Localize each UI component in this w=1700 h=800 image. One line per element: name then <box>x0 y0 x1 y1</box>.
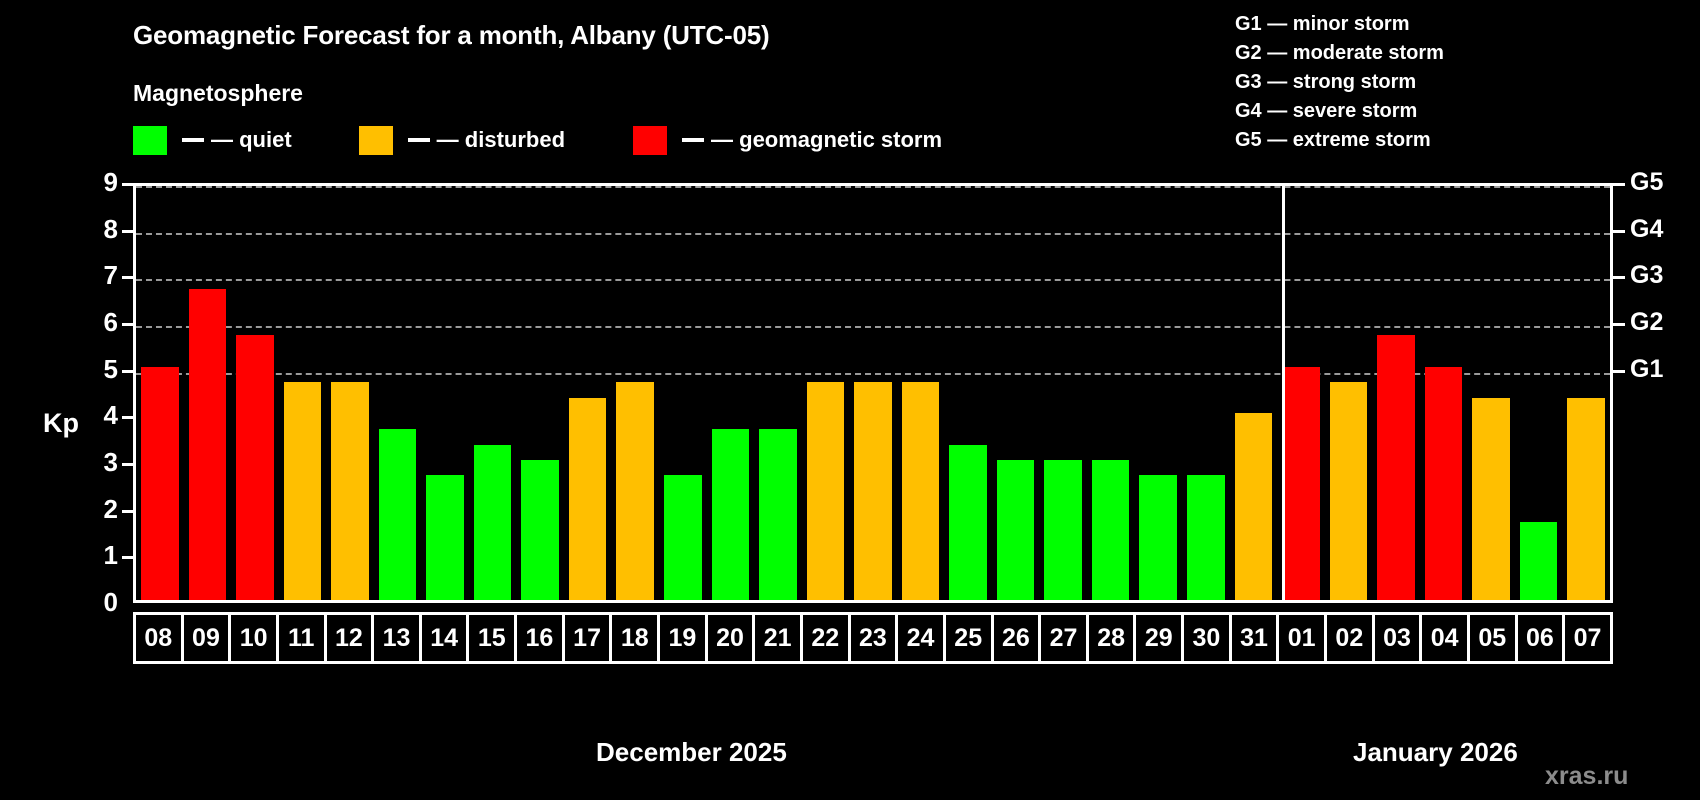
g-scale-line-g2: G2 — moderate storm <box>1235 39 1444 68</box>
bar-14[interactable] <box>426 475 464 600</box>
g-tick-mark-g2 <box>1613 323 1625 326</box>
g-scale-line-g3: G3 — strong storm <box>1235 68 1444 97</box>
bar-04[interactable] <box>1425 367 1463 600</box>
bar-slot <box>326 186 374 600</box>
date-label-29[interactable]: 29 <box>1133 612 1184 664</box>
bar-31[interactable] <box>1235 413 1273 600</box>
date-label-17[interactable]: 17 <box>562 612 613 664</box>
bar-slot <box>611 186 659 600</box>
bar-26[interactable] <box>997 460 1035 600</box>
legend-heading: Magnetosphere <box>133 80 303 107</box>
date-label-31[interactable]: 31 <box>1229 612 1280 664</box>
bar-19[interactable] <box>664 475 702 600</box>
bar-11[interactable] <box>284 382 322 600</box>
date-label-15[interactable]: 15 <box>466 612 517 664</box>
g-scale-line-g5: G5 — extreme storm <box>1235 126 1444 155</box>
date-label-27[interactable]: 27 <box>1038 612 1089 664</box>
legend-item-disturbed: — disturbed <box>359 126 565 155</box>
date-label-02[interactable]: 02 <box>1324 612 1375 664</box>
g-scale-line-g1: G1 — minor storm <box>1235 10 1444 39</box>
g-tick-label-g4: G4 <box>1630 217 1663 242</box>
date-label-28[interactable]: 28 <box>1086 612 1137 664</box>
bar-slot <box>849 186 897 600</box>
date-label-08[interactable]: 08 <box>133 612 184 664</box>
page-title: Geomagnetic Forecast for a month, Albany… <box>133 20 769 51</box>
bar-24[interactable] <box>902 382 940 600</box>
bar-slot <box>1134 186 1182 600</box>
bar-18[interactable] <box>616 382 654 600</box>
bar-15[interactable] <box>474 445 512 600</box>
legend-dash-icon <box>408 138 430 142</box>
legend-dash-icon <box>682 138 704 142</box>
g-tick-mark-g4 <box>1613 230 1625 233</box>
y-tick-label-1: 1 <box>78 542 118 568</box>
bar-03[interactable] <box>1377 335 1415 600</box>
y-tick-label-2: 2 <box>78 496 118 522</box>
date-label-13[interactable]: 13 <box>371 612 422 664</box>
legend-label-quiet: — quiet <box>211 127 292 153</box>
date-label-23[interactable]: 23 <box>848 612 899 664</box>
geomagnetic-forecast-chart: Geomagnetic Forecast for a month, Albany… <box>0 0 1700 800</box>
bar-02[interactable] <box>1330 382 1368 600</box>
bar-slot <box>992 186 1040 600</box>
legend-dash-icon <box>182 138 204 142</box>
bar-slot <box>1182 186 1230 600</box>
date-label-30[interactable]: 30 <box>1181 612 1232 664</box>
date-label-20[interactable]: 20 <box>705 612 756 664</box>
g-scale-legend: G1 — minor storm G2 — moderate storm G3 … <box>1235 10 1444 155</box>
amber-square-icon <box>359 126 393 155</box>
bar-slot <box>944 186 992 600</box>
bar-10[interactable] <box>236 335 274 600</box>
bar-27[interactable] <box>1044 460 1082 600</box>
bar-slot <box>1325 186 1373 600</box>
bar-25[interactable] <box>949 445 987 600</box>
green-square-icon <box>133 126 167 155</box>
bar-23[interactable] <box>854 382 892 600</box>
bar-06[interactable] <box>1520 522 1558 600</box>
g-tick-label-g2: G2 <box>1630 310 1663 335</box>
bar-21[interactable] <box>759 429 797 600</box>
date-label-03[interactable]: 03 <box>1372 612 1423 664</box>
month-label-january: January 2026 <box>1353 737 1518 768</box>
bar-05[interactable] <box>1472 398 1510 600</box>
date-label-09[interactable]: 09 <box>181 612 232 664</box>
y-tick-label-8: 8 <box>78 216 118 242</box>
g-tick-label-g1: G1 <box>1630 357 1663 382</box>
watermark: xras.ru <box>1545 762 1628 791</box>
bar-slot <box>1230 186 1278 600</box>
bar-13[interactable] <box>379 429 417 600</box>
bar-08[interactable] <box>141 367 179 600</box>
bar-slot <box>184 186 232 600</box>
bar-28[interactable] <box>1092 460 1130 600</box>
date-label-05[interactable]: 05 <box>1467 612 1518 664</box>
bar-01[interactable] <box>1282 367 1320 600</box>
g-tick-mark-g1 <box>1613 370 1625 373</box>
bar-slot <box>279 186 327 600</box>
bar-29[interactable] <box>1139 475 1177 600</box>
date-label-26[interactable]: 26 <box>991 612 1042 664</box>
legend-label-storm: — geomagnetic storm <box>711 127 942 153</box>
legend-label-disturbed: — disturbed <box>437 127 565 153</box>
bar-slot <box>754 186 802 600</box>
date-label-22[interactable]: 22 <box>800 612 851 664</box>
g-tick-mark-g3 <box>1613 276 1625 279</box>
g-tick-label-g5: G5 <box>1630 170 1663 195</box>
date-label-16[interactable]: 16 <box>514 612 565 664</box>
bar-slot <box>469 186 517 600</box>
date-label-19[interactable]: 19 <box>657 612 708 664</box>
y-tick-label-5: 5 <box>78 356 118 382</box>
bar-slot <box>1562 186 1610 600</box>
g-scale-line-g4: G4 — severe storm <box>1235 97 1444 126</box>
bar-slot <box>421 186 469 600</box>
y-tick-label-7: 7 <box>78 262 118 288</box>
bar-20[interactable] <box>712 429 750 600</box>
y-tick-label-6: 6 <box>78 309 118 335</box>
date-label-06[interactable]: 06 <box>1515 612 1566 664</box>
bar-07[interactable] <box>1567 398 1605 600</box>
legend-item-quiet: — quiet <box>133 126 292 155</box>
red-square-icon <box>633 126 667 155</box>
date-label-07[interactable]: 07 <box>1562 612 1613 664</box>
bar-slot <box>707 186 755 600</box>
bar-slot <box>374 186 422 600</box>
date-label-18[interactable]: 18 <box>609 612 660 664</box>
bar-slot <box>802 186 850 600</box>
date-label-10[interactable]: 10 <box>228 612 279 664</box>
bar-slot <box>659 186 707 600</box>
date-label-24[interactable]: 24 <box>895 612 946 664</box>
bar-slot <box>897 186 945 600</box>
bar-30[interactable] <box>1187 475 1225 600</box>
y-axis-title: Kp <box>43 408 79 439</box>
date-label-11[interactable]: 11 <box>276 612 327 664</box>
bar-slot <box>1467 186 1515 600</box>
bar-12[interactable] <box>331 382 369 600</box>
bar-slot <box>231 186 279 600</box>
date-label-04[interactable]: 04 <box>1419 612 1470 664</box>
plot-area <box>133 183 1613 603</box>
month-label-december: December 2025 <box>596 737 787 768</box>
bar-slot <box>516 186 564 600</box>
bar-slot <box>564 186 612 600</box>
date-axis: 0809101112131415161718192021222324252627… <box>133 612 1613 664</box>
y-tick-label-3: 3 <box>78 449 118 475</box>
magnetosphere-legend: — quiet — disturbed — geomagnetic storm <box>133 125 942 155</box>
bar-09[interactable] <box>189 289 227 600</box>
bar-slot <box>1087 186 1135 600</box>
g-tick-mark-g5 <box>1613 183 1625 186</box>
bar-17[interactable] <box>569 398 607 600</box>
date-label-21[interactable]: 21 <box>752 612 803 664</box>
y-tick-label-9: 9 <box>78 169 118 195</box>
bar-slot <box>1420 186 1468 600</box>
bar-slot <box>1039 186 1087 600</box>
bar-16[interactable] <box>521 460 559 600</box>
g-tick-label-g3: G3 <box>1630 263 1663 288</box>
y-tick-label-4: 4 <box>78 402 118 428</box>
date-label-14[interactable]: 14 <box>419 612 470 664</box>
bar-series <box>136 186 1610 600</box>
bar-slot <box>1372 186 1420 600</box>
bar-slot <box>1515 186 1563 600</box>
month-divider <box>1282 186 1285 600</box>
y-tick-label-0: 0 <box>78 589 118 615</box>
legend-item-storm: — geomagnetic storm <box>633 126 942 155</box>
date-label-01[interactable]: 01 <box>1276 612 1327 664</box>
bar-slot <box>136 186 184 600</box>
date-label-25[interactable]: 25 <box>943 612 994 664</box>
bar-22[interactable] <box>807 382 845 600</box>
date-label-12[interactable]: 12 <box>324 612 375 664</box>
